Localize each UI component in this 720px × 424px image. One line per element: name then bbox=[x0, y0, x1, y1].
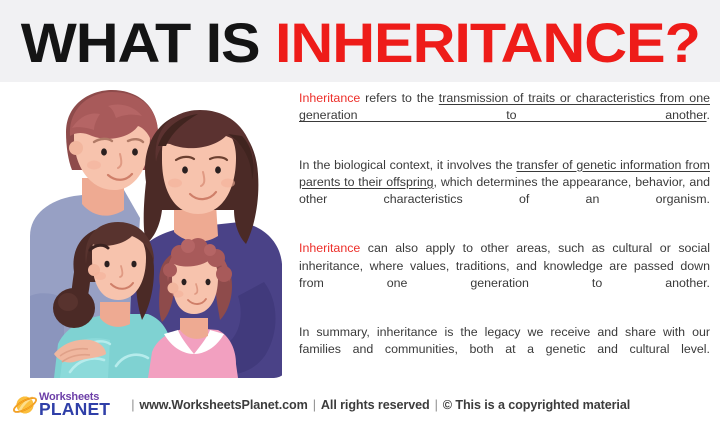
p1-run-3: . bbox=[707, 108, 710, 122]
page-title: WHAT IS INHERITANCE? bbox=[21, 14, 700, 72]
mother-eye-right bbox=[215, 166, 221, 173]
father-eye-left bbox=[101, 148, 107, 155]
brand-logo[interactable]: Worksheets PLANET bbox=[12, 392, 110, 419]
family-illustration-svg bbox=[12, 86, 288, 378]
footer-separator-1: | bbox=[131, 398, 134, 412]
footer-website[interactable]: www.WorksheetsPlanet.com bbox=[139, 398, 307, 412]
toddler-eye-right bbox=[206, 279, 211, 285]
footer-meta: |www.WorksheetsPlanet.com|All rights res… bbox=[126, 398, 630, 412]
paragraph-2: In the biological context, it involves t… bbox=[299, 157, 710, 226]
toddler-eye-left bbox=[182, 279, 187, 285]
mother-eye-left bbox=[182, 166, 188, 173]
paragraph-3: Inheritance can also apply to other area… bbox=[299, 240, 710, 309]
page-title-red-part: INHERITANCE? bbox=[275, 11, 700, 74]
p1-run-1: refers to the bbox=[360, 91, 438, 105]
page-title-black-part: WHAT IS bbox=[21, 11, 275, 74]
footer-separator-2: | bbox=[313, 398, 316, 412]
keyword-inheritance-2: Inheritance bbox=[299, 241, 360, 255]
paragraph-4: In summary, inheritance is the legacy we… bbox=[299, 324, 710, 376]
article-body: Inheritance refers to the transmission o… bbox=[299, 90, 710, 376]
girl-eye-left bbox=[104, 261, 109, 268]
footer-separator-3: | bbox=[435, 398, 438, 412]
footer-bar: Worksheets PLANET |www.WorksheetsPlanet.… bbox=[0, 386, 720, 424]
keyword-inheritance-1: Inheritance bbox=[299, 91, 360, 105]
planet-icon bbox=[12, 392, 38, 418]
girl-eye-right bbox=[131, 261, 136, 268]
p3-run-1: can also apply to other areas, such as c… bbox=[299, 241, 710, 289]
title-banner: WHAT IS INHERITANCE? bbox=[0, 0, 720, 82]
paragraph-1: Inheritance refers to the transmission o… bbox=[299, 90, 710, 142]
footer-rights: All rights reserved bbox=[321, 398, 430, 412]
brand-wordmark: Worksheets PLANET bbox=[39, 392, 110, 419]
family-illustration bbox=[12, 86, 288, 378]
brand-planet-text: PLANET bbox=[39, 401, 110, 419]
p4-run-0: In summary, inheritance is the legacy we… bbox=[299, 325, 710, 356]
father-eye-right bbox=[132, 148, 138, 155]
p2-run-0: In the biological context, it involves t… bbox=[299, 158, 516, 172]
footer-copyright: © This is a copyrighted material bbox=[443, 398, 630, 412]
